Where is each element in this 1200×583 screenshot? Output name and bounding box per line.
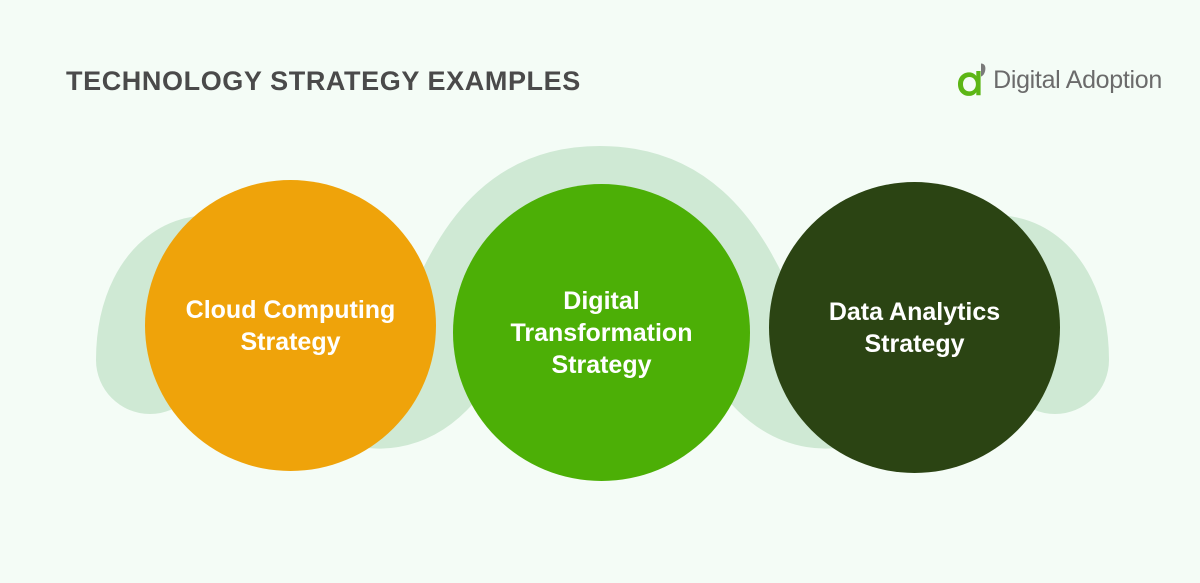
strategy-circle-cloud-computing[interactable]: Cloud Computing Strategy (145, 180, 436, 471)
strategy-diagram: Cloud Computing Strategy Digital Transfo… (0, 0, 1200, 583)
strategy-circle-label: Cloud Computing Strategy (145, 294, 436, 358)
strategy-circle-label: Data Analytics Strategy (769, 296, 1060, 360)
strategy-circle-data-analytics[interactable]: Data Analytics Strategy (769, 182, 1060, 473)
infographic-canvas: TECHNOLOGY STRATEGY EXAMPLES Digital Ado… (0, 0, 1200, 583)
strategy-circle-digital-transformation[interactable]: Digital Transformation Strategy (453, 184, 750, 481)
strategy-circle-label: Digital Transformation Strategy (453, 285, 750, 381)
strategy-circles: Cloud Computing Strategy Digital Transfo… (0, 0, 1200, 583)
